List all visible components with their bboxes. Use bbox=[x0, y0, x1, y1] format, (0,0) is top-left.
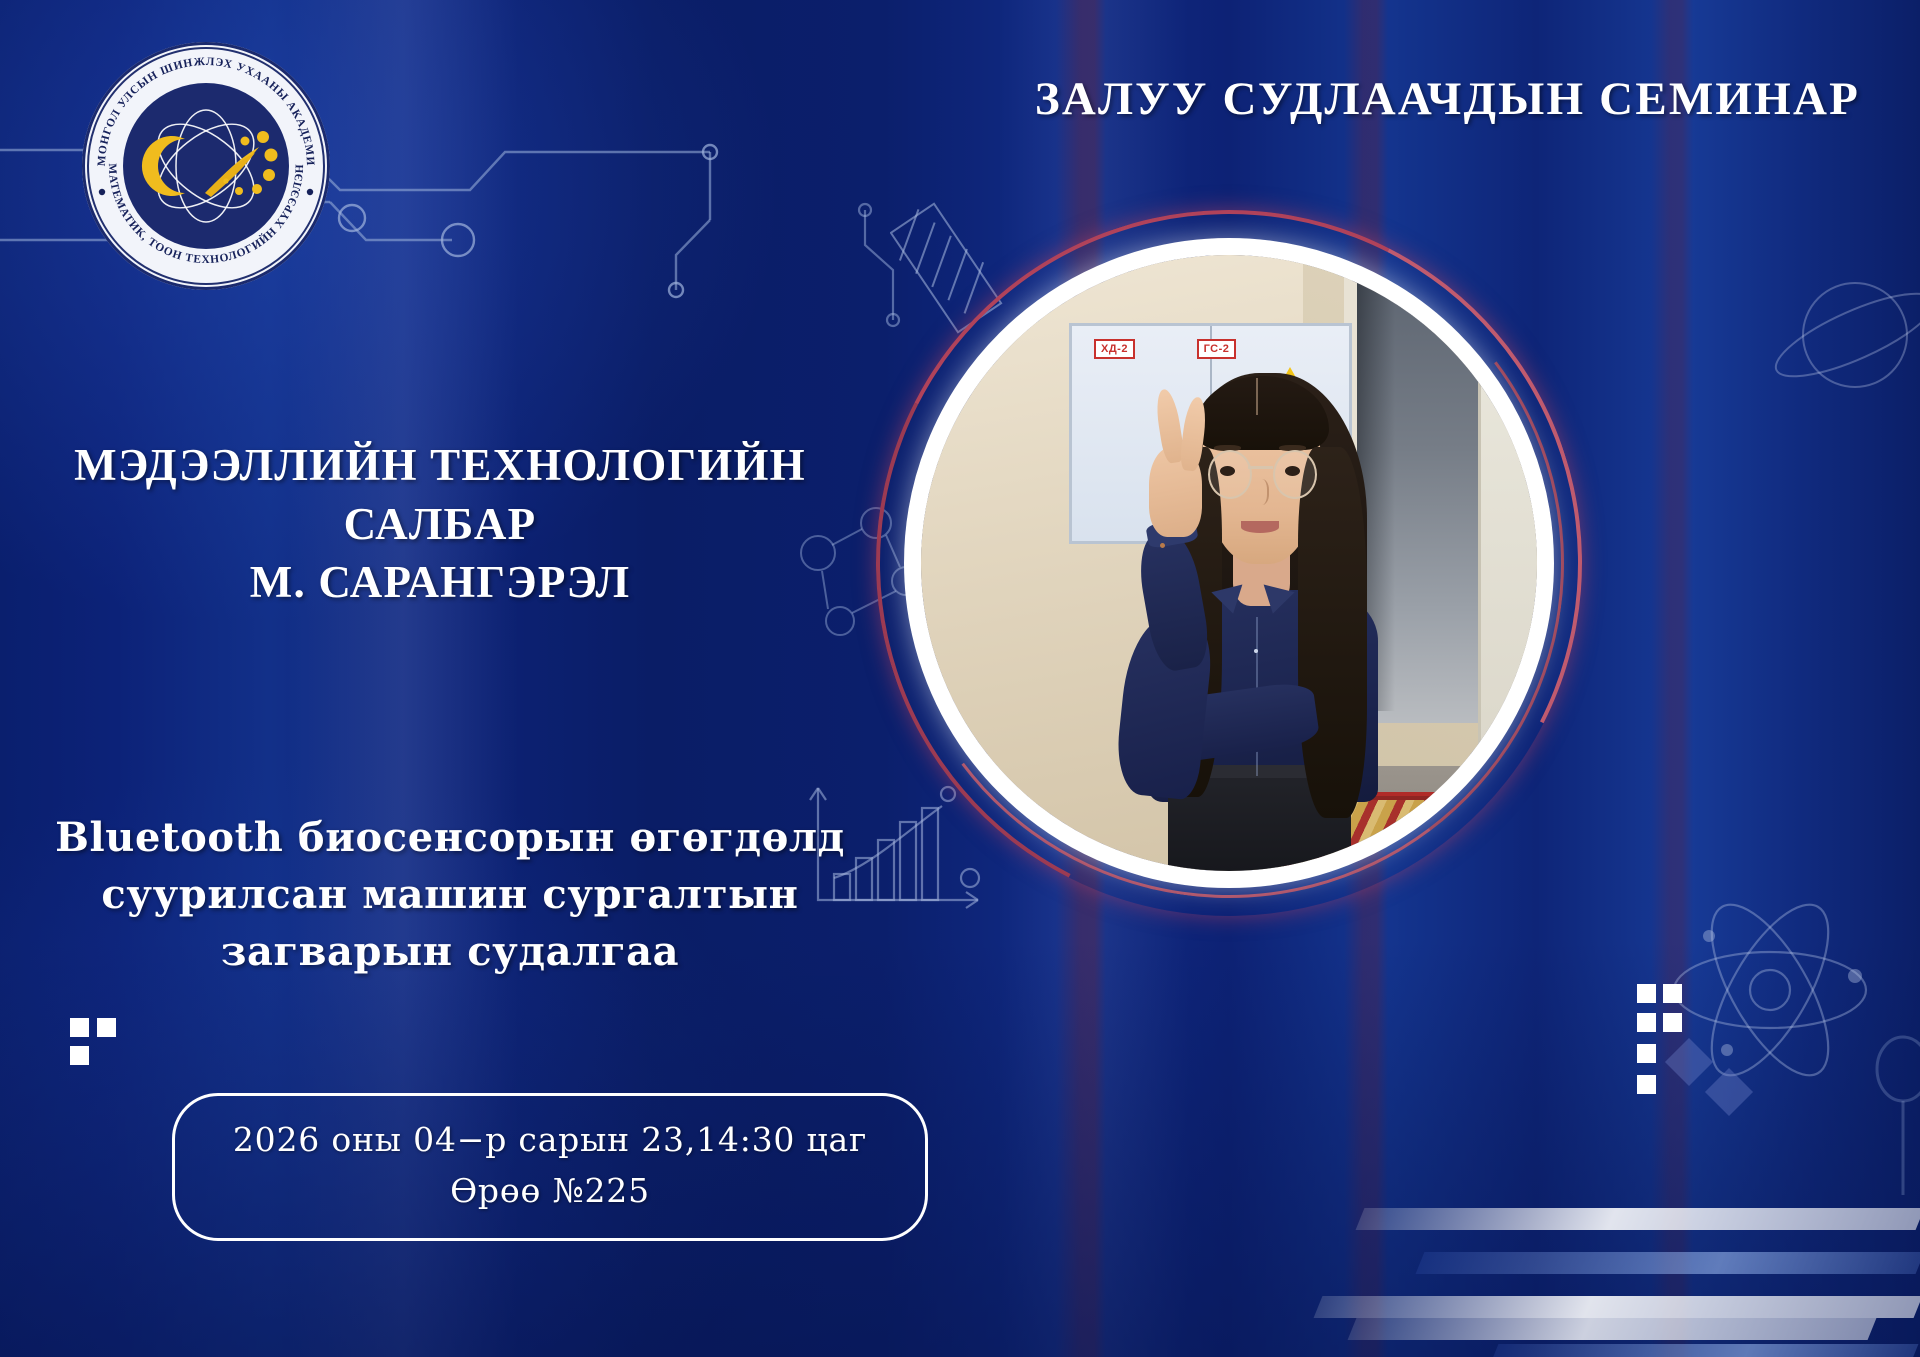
shirt-button-1 bbox=[1254, 649, 1258, 653]
department-line-2: САЛБАР bbox=[0, 495, 880, 554]
square-dot-5 bbox=[1637, 1044, 1656, 1063]
department-block: МЭДЭЭЛЛИЙН ТЕХНОЛОГИЙН САЛБАР М. САРАНГЭ… bbox=[0, 436, 880, 612]
research-title-line-1: Bluetooth биосенсорын өгөгдөлд bbox=[0, 810, 900, 867]
speed-bar-5 bbox=[1490, 1344, 1919, 1357]
presenter-photo: ХД-2 ГС-2 ⚡ bbox=[876, 210, 1582, 916]
photo-image: ХД-2 ГС-2 ⚡ bbox=[921, 255, 1537, 871]
event-details-box: 2026 оны 04−р сарын 23,14:30 цаг Өрөө №2… bbox=[172, 1093, 928, 1241]
scene-door-panel bbox=[1478, 255, 1537, 748]
speed-bar-3 bbox=[1314, 1296, 1920, 1318]
seminar-poster: ЗАЛУУ СУДЛААЧДЫН СЕМИНАР МОНГОЛ УЛСЫН ШИ… bbox=[0, 0, 1920, 1357]
square-dot-6 bbox=[1637, 1075, 1656, 1094]
logo-atom-infinity-glyph bbox=[123, 83, 289, 249]
bottom-square-dot-2 bbox=[97, 1018, 116, 1037]
event-datetime: 2026 оны 04−р сарын 23,14:30 цаг bbox=[185, 1114, 915, 1165]
square-dot-1 bbox=[1637, 984, 1656, 1003]
speed-bar-4 bbox=[1348, 1318, 1877, 1340]
research-title-line-3: загварын судалгаа bbox=[0, 924, 900, 981]
square-dot-2 bbox=[1663, 984, 1682, 1003]
event-room: Өрөө №225 bbox=[185, 1165, 915, 1216]
department-line-1: МЭДЭЭЛЛИЙН ТЕХНОЛОГИЙН bbox=[0, 436, 880, 495]
bottom-square-dot-1 bbox=[70, 1018, 89, 1037]
research-title-line-2: суурилсан машин сургалтын bbox=[0, 867, 900, 924]
square-dot-3 bbox=[1637, 1013, 1656, 1032]
person-hair-part bbox=[1256, 378, 1258, 415]
person-figure bbox=[1069, 341, 1451, 871]
bottom-square-dot-3 bbox=[70, 1046, 89, 1065]
page-title: ЗАЛУУ СУДЛААЧДЫН СЕМИНАР bbox=[1035, 72, 1860, 126]
speed-bar-2 bbox=[1416, 1252, 1920, 1274]
research-title-block: Bluetooth биосенсорын өгөгдөлд суурилсан… bbox=[0, 810, 900, 980]
academy-logo: МОНГОЛ УЛСЫН ШИНЖЛЭХ УХААНЫ АКАДЕМИ МАТЕ… bbox=[82, 42, 330, 290]
person-nose bbox=[1252, 479, 1269, 505]
person-mouth bbox=[1241, 521, 1279, 533]
photo-scene: ХД-2 ГС-2 ⚡ bbox=[921, 255, 1537, 871]
person-hair-strand-right bbox=[1298, 447, 1367, 818]
logo-emblem bbox=[123, 83, 289, 249]
presenter-name: М. САРАНГЭРЭЛ bbox=[0, 553, 880, 612]
speed-bar-1 bbox=[1356, 1208, 1920, 1230]
glasses-bridge bbox=[1248, 466, 1273, 468]
square-dot-4 bbox=[1663, 1013, 1682, 1032]
